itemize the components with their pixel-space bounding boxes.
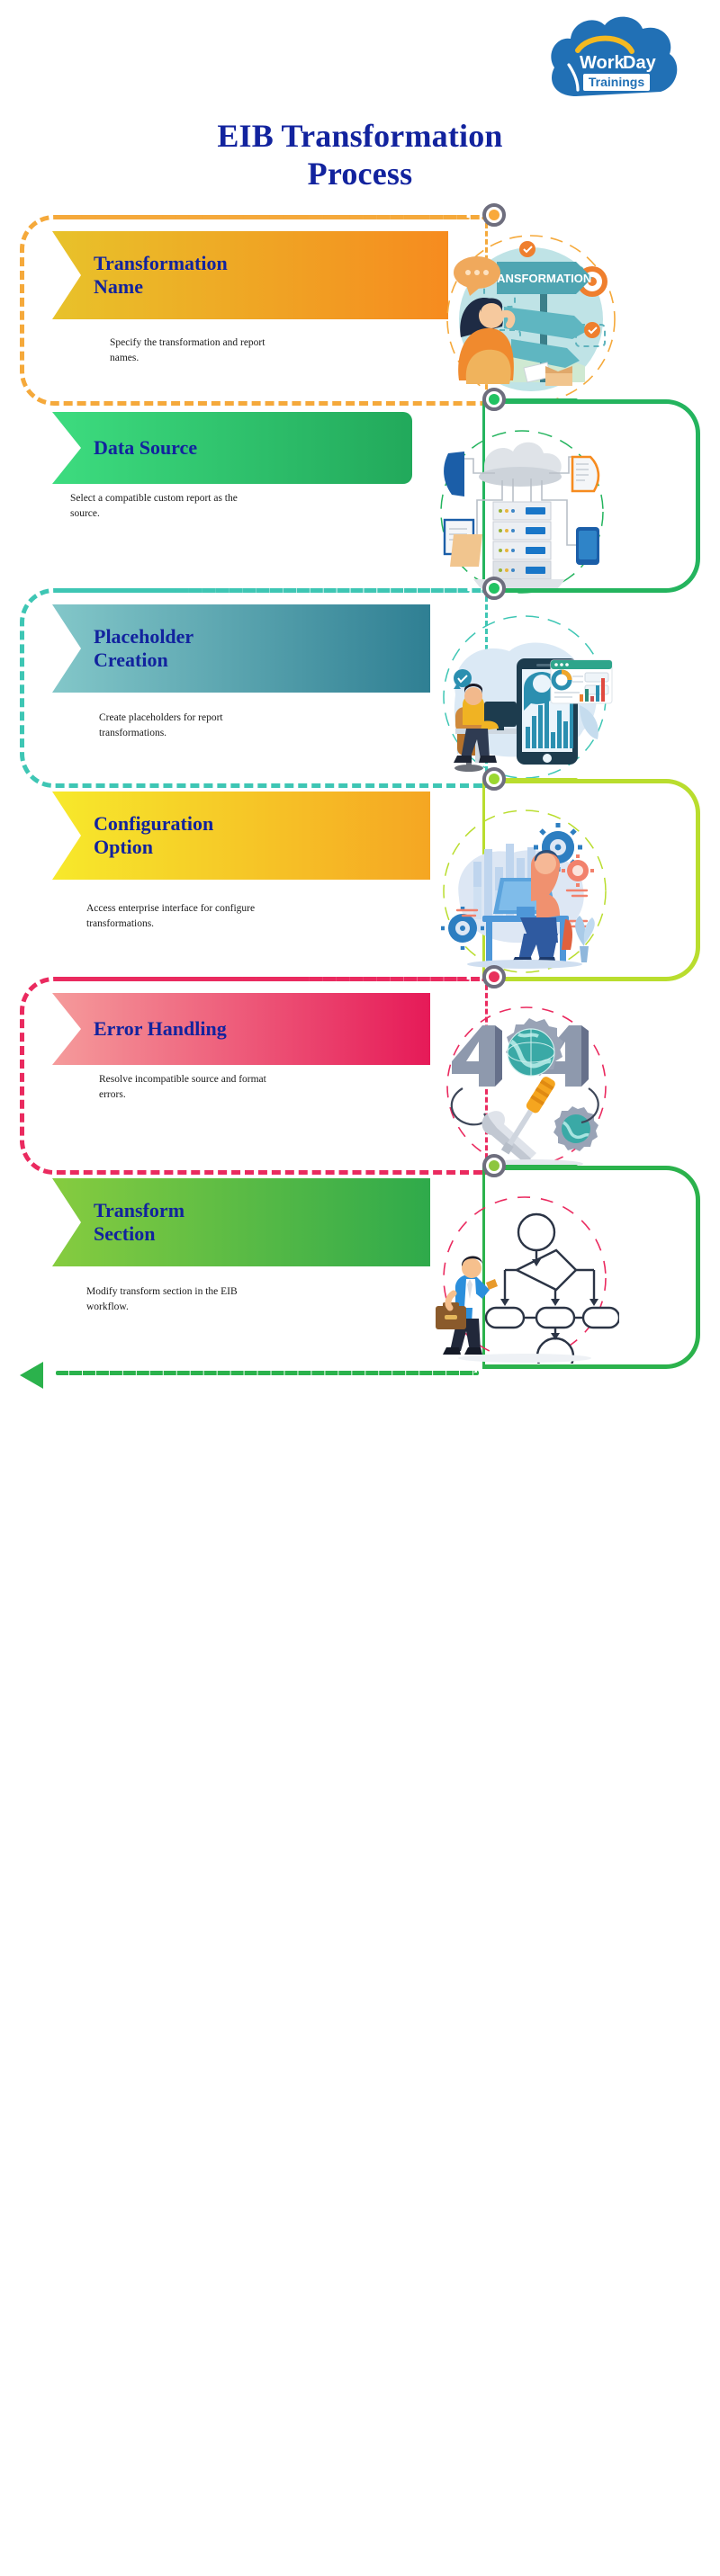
- step-5-node-dot: [489, 971, 499, 982]
- logo-badge-trainings: Trainings: [589, 75, 644, 89]
- step-1-title-line-2: Name: [94, 275, 143, 298]
- step-6-description: Modify transform section in the EIB work…: [86, 1284, 266, 1314]
- logo-word-day: Day: [623, 53, 657, 73]
- step-3-ribbon[interactable]: Placeholder Creation: [52, 604, 430, 693]
- step-1-top-connector: [56, 215, 470, 219]
- step-2-ribbon[interactable]: Data Source: [52, 412, 412, 484]
- step-1-node[interactable]: [482, 203, 506, 227]
- step-5-title-line-1: Error Handling: [94, 1017, 227, 1040]
- step-2-title: Data Source: [94, 436, 197, 460]
- infographic-header: Work Day Trainings EIB Transformation Pr…: [0, 0, 720, 234]
- step-6-title-line-1: Transform: [94, 1199, 184, 1221]
- globe-gear-small: [553, 1106, 598, 1151]
- step-4-title: Configuration Option: [94, 812, 213, 860]
- flow-end-connector: [56, 1371, 479, 1375]
- step-2-node[interactable]: [482, 388, 506, 411]
- worker-monitor-gears-illustration: [430, 808, 619, 975]
- step-3-node-dot: [489, 583, 499, 594]
- step-5-node[interactable]: [482, 965, 506, 988]
- step-3-title-line-2: Creation: [94, 648, 168, 671]
- step-3-top-connector: [56, 588, 470, 593]
- step-4-ribbon[interactable]: Configuration Option: [52, 792, 430, 880]
- step-1-transformation-name[interactable]: Transformation Name Specify the transfor…: [0, 211, 720, 400]
- step-6-ribbon[interactable]: Transform Section: [52, 1178, 430, 1266]
- flow-end-arrow: [20, 1362, 43, 1389]
- workday-trainings-cloud-logo: Work Day Trainings: [542, 11, 686, 110]
- step-1-title: Transformation Name: [94, 252, 228, 300]
- businessman-flowchart-illustration: [430, 1193, 619, 1364]
- transformation-signpost-illustration: TRANSFORMATION: [441, 229, 621, 409]
- step-6-node-dot: [489, 1160, 499, 1171]
- step-2-title-line-1: Data Source: [94, 436, 197, 459]
- step-3-description: Create placeholders for report transform…: [99, 711, 279, 740]
- step-5-top-connector: [56, 977, 470, 981]
- step-1-ribbon[interactable]: Transformation Name: [52, 231, 448, 319]
- cloud-server-rack-illustration: [432, 426, 612, 597]
- step-1-title-line-1: Transformation: [94, 252, 228, 274]
- step-1-description: Specify the transformation and report na…: [110, 335, 290, 365]
- logo-word-work: Work: [580, 53, 625, 73]
- step-4-node-dot: [489, 774, 499, 784]
- step-6-transform-section[interactable]: Transform Section Modify transform secti…: [0, 1162, 720, 1369]
- step-6-top-connector: [504, 1165, 578, 1168]
- step-5-ribbon[interactable]: Error Handling: [52, 993, 430, 1065]
- step-4-title-line-1: Configuration: [94, 812, 213, 835]
- step-5-error-handling[interactable]: Error Handling Resolve incompatible sour…: [0, 973, 720, 1169]
- step-3-node[interactable]: [482, 577, 506, 600]
- screwdriver-icon: [499, 1075, 556, 1156]
- step-4-title-line-2: Option: [94, 836, 153, 858]
- step-3-placeholder-creation[interactable]: Placeholder Creation Create placeholders…: [0, 585, 720, 783]
- flow-end: [0, 1360, 720, 1396]
- step-4-configuration-option[interactable]: Configuration Option Access enterprise i…: [0, 775, 720, 978]
- analyst-dashboard-tablet-illustration: [430, 612, 619, 783]
- step-6-title-line-2: Section: [94, 1222, 155, 1245]
- step-5-description: Resolve incompatible source and format e…: [99, 1072, 279, 1102]
- step-4-description: Access enterprise interface for configur…: [86, 901, 266, 931]
- error-404-tools-illustration: [432, 1006, 621, 1167]
- step-4-node[interactable]: [482, 767, 506, 791]
- step-2-top-connector: [504, 398, 578, 402]
- step-3-title-line-1: Placeholder: [94, 625, 193, 648]
- step-4-top-connector: [504, 778, 578, 782]
- step-6-node[interactable]: [482, 1154, 506, 1177]
- page-title: EIB Transformation Process: [0, 117, 720, 193]
- step-1-node-dot: [489, 210, 499, 220]
- logo-svg: Work Day Trainings: [542, 11, 686, 110]
- step-6-title: Transform Section: [94, 1199, 184, 1247]
- step-2-description: Select a compatible custom report as the…: [70, 491, 250, 521]
- page-title-line-2: Process: [308, 156, 413, 192]
- page-title-line-1: EIB Transformation: [217, 118, 502, 154]
- step-2-data-source[interactable]: Data Source Select a compatible custom r…: [0, 396, 720, 589]
- step-5-title: Error Handling: [94, 1017, 227, 1041]
- step-3-title: Placeholder Creation: [94, 625, 193, 673]
- step-2-node-dot: [489, 394, 499, 405]
